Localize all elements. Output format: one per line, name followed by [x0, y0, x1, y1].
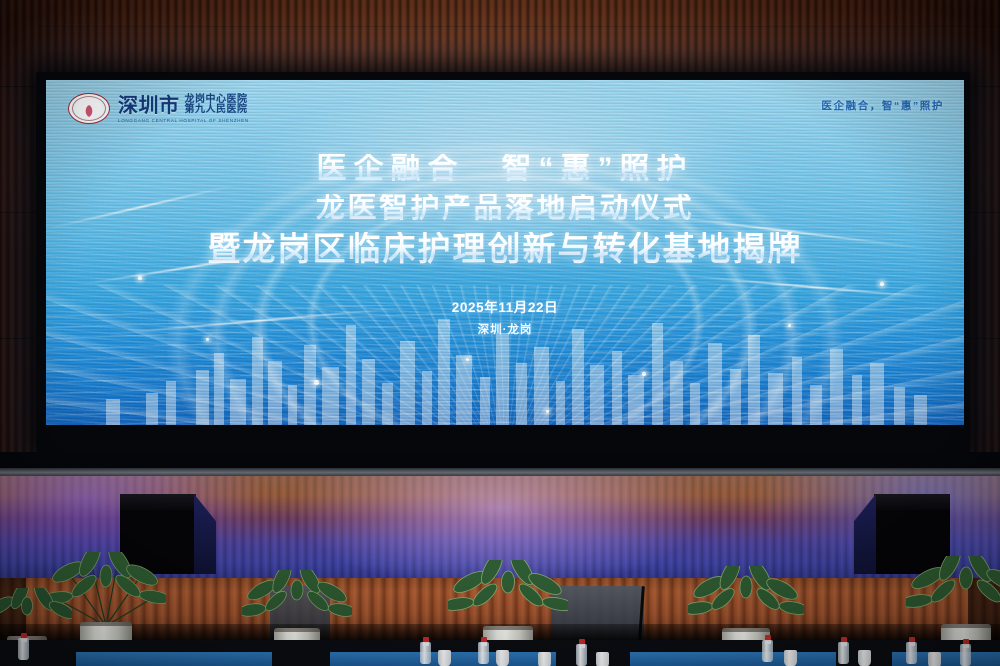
- water-bottle: [838, 642, 849, 664]
- plant-foliage: [688, 566, 804, 632]
- speaker-top-face: [874, 494, 950, 510]
- hospital-logo-text: 深圳市 龙岗中心医院 第九人民医院 LONGGANG CENTRAL HOSPI…: [118, 95, 249, 123]
- hospital-name-line2: 第九人民医院: [185, 105, 248, 116]
- conference-hall-scene: 深圳市 龙岗中心医院 第九人民医院 LONGGANG CENTRAL HOSPI…: [0, 0, 1000, 666]
- water-bottle: [576, 644, 587, 666]
- paper-cup: [858, 650, 871, 666]
- seal-ring: [72, 96, 106, 121]
- paper-cup: [438, 650, 451, 666]
- water-bottle: [420, 642, 431, 664]
- hospital-city-name: 深圳市: [118, 96, 180, 116]
- wall-seam: [0, 86, 36, 87]
- event-location: 深圳·龙岗: [46, 321, 964, 337]
- event-meta-block: 2025年11月22日 深圳·龙岗: [46, 296, 964, 337]
- event-title-block: 医企融合 智“惠”照护 龙医智护产品落地启动仪式 暨龙岗区临床护理创新与转化基地…: [46, 154, 964, 265]
- plant-foliage: [906, 556, 1000, 628]
- event-title-line1: 医企融合 智“惠”照护: [46, 154, 964, 184]
- table-skirt: [76, 652, 272, 666]
- paper-cup: [784, 650, 797, 666]
- wall-seam: [970, 86, 1000, 87]
- wall-seam: [0, 338, 36, 339]
- hospital-seal-icon: [68, 93, 110, 124]
- event-title-line3: 暨龙岗区临床护理创新与转化基地揭牌: [46, 232, 964, 265]
- led-screen: 深圳市 龙岗中心医院 第九人民医院 LONGGANG CENTRAL HOSPI…: [46, 80, 964, 425]
- paper-cup: [538, 652, 551, 666]
- hospital-name-lines: 龙岗中心医院 第九人民医院: [185, 95, 248, 116]
- hospital-logo-row: 深圳市 龙岗中心医院 第九人民医院: [118, 95, 249, 116]
- hospital-logo: 深圳市 龙岗中心医院 第九人民医院 LONGGANG CENTRAL HOSPI…: [68, 93, 249, 124]
- wall-seam: [970, 338, 1000, 339]
- wall-seam: [40, 26, 1000, 27]
- water-bottle: [18, 638, 29, 660]
- event-title-line2: 龙医智护产品落地启动仪式: [46, 194, 964, 223]
- water-bottle: [478, 642, 489, 664]
- speaker-top-face: [120, 494, 196, 510]
- hospital-english-name: LONGGANG CENTRAL HOSPITAL OF SHENZHEN: [118, 118, 249, 123]
- wall-seam: [0, 212, 36, 213]
- paper-cup: [496, 650, 509, 666]
- plant-foliage: [0, 588, 72, 640]
- water-bottle: [762, 640, 773, 662]
- plant-foliage: [448, 560, 568, 630]
- paper-cup: [928, 652, 941, 666]
- water-bottle: [960, 644, 971, 666]
- water-bottle: [906, 642, 917, 664]
- corner-slogan: 医企融合，智“惠”照护: [821, 98, 944, 113]
- paper-cup: [596, 652, 609, 666]
- table-skirt: [630, 652, 836, 666]
- event-date: 2025年11月22日: [46, 296, 964, 316]
- plant-foliage: [242, 570, 352, 632]
- wall-seam: [970, 212, 1000, 213]
